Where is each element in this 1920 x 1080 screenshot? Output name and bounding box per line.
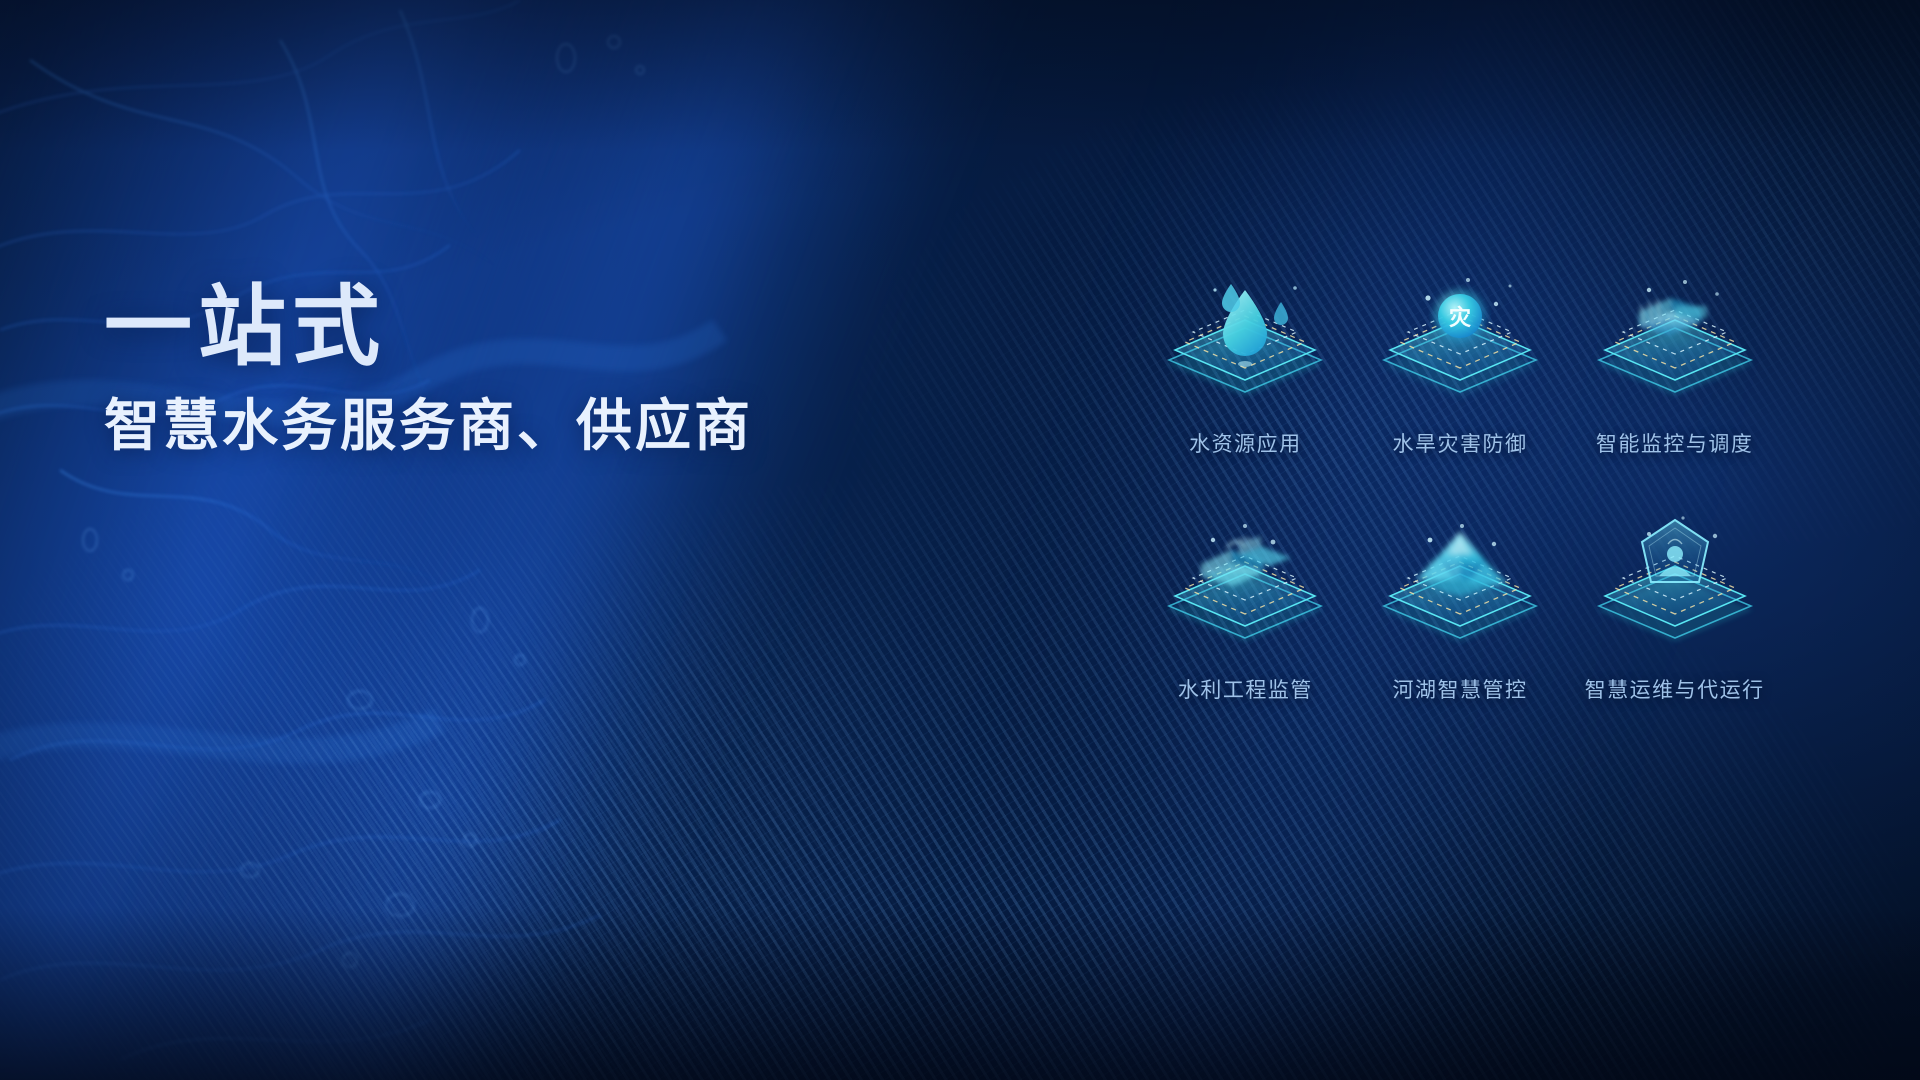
shield-operations-icon: [1575, 514, 1775, 664]
hero-slide: 一站式 智慧水务服务商、供应商: [0, 0, 1920, 1080]
dam-monitoring-icon: [1575, 268, 1775, 418]
capability-item-project-supervision[interactable]: 水利工程监管: [1140, 514, 1351, 704]
capability-label: 水利工程监管: [1178, 674, 1313, 704]
river-mountain-icon: [1360, 514, 1560, 664]
capability-label: 水资源应用: [1189, 428, 1302, 458]
capability-label: 水旱灾害防御: [1392, 428, 1527, 458]
headline-block: 一站式 智慧水务服务商、供应商: [104, 282, 924, 456]
capability-item-flood-drought[interactable]: 灾 水旱灾害防御: [1355, 268, 1566, 458]
disaster-sphere-icon: 灾: [1360, 268, 1560, 418]
capability-label: 河湖智慧管控: [1392, 674, 1527, 704]
headline-primary: 一站式: [104, 282, 924, 372]
capability-label: 智慧运维与代运行: [1585, 674, 1765, 704]
capability-item-water-resource[interactable]: 水资源应用: [1140, 268, 1351, 458]
sphere-glyph: 灾: [1449, 305, 1472, 330]
headline-secondary: 智慧水务服务商、供应商: [104, 396, 924, 456]
sluice-gate-icon: [1145, 514, 1345, 664]
capability-item-river-lake[interactable]: 河湖智慧管控: [1355, 514, 1566, 704]
water-droplet-icon: [1145, 268, 1345, 418]
capability-label: 智能监控与调度: [1596, 428, 1754, 458]
capability-icon-grid: 水资源应用: [1140, 268, 1780, 704]
capability-item-smart-operations[interactable]: 智慧运维与代运行: [1569, 514, 1780, 704]
capability-item-smart-dispatch[interactable]: 智能监控与调度: [1569, 268, 1780, 458]
